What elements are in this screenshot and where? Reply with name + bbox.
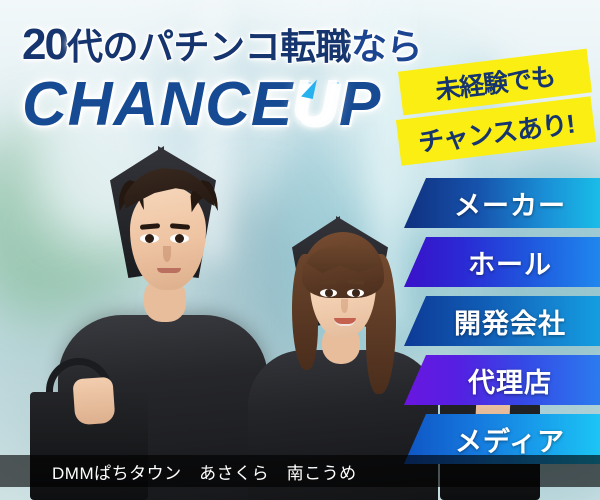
credit-strip: DMMぱちタウン あさくら 南こうめ	[0, 455, 600, 487]
man-nose	[163, 246, 171, 262]
category-button-developer[interactable]: 開発会社	[404, 296, 600, 346]
headline-number: 20	[22, 20, 67, 69]
category-button-agency[interactable]: 代理店	[404, 355, 600, 405]
chance-up-banner[interactable]: 20代のパチンコ転職なら CHANCEUP 未経験でも チャンスあり! メーカー…	[0, 0, 600, 500]
woman-pupil-left	[325, 289, 333, 297]
logo-chance-up: CHANCEUP	[22, 74, 381, 136]
woman-nose	[341, 299, 348, 313]
category-list: メーカー ホール 開発会社 代理店 メディア	[404, 178, 600, 473]
headline-main: 代のパチンコ転職	[67, 26, 351, 67]
man-pupil-right	[175, 234, 184, 243]
status-badge: 未経験でも チャンスあり!	[398, 56, 596, 160]
category-button-hall[interactable]: ホール	[404, 237, 600, 287]
woman-pupil-right	[352, 289, 360, 297]
logo-letter-p: P	[339, 70, 381, 139]
page-title: 20代のパチンコ転職なら	[22, 18, 422, 70]
man-mouth	[157, 268, 181, 273]
hand-left	[72, 377, 115, 426]
man-pupil-left	[145, 234, 154, 243]
logo-word-chance: CHANCE	[22, 70, 293, 139]
category-button-maker[interactable]: メーカー	[404, 178, 600, 228]
